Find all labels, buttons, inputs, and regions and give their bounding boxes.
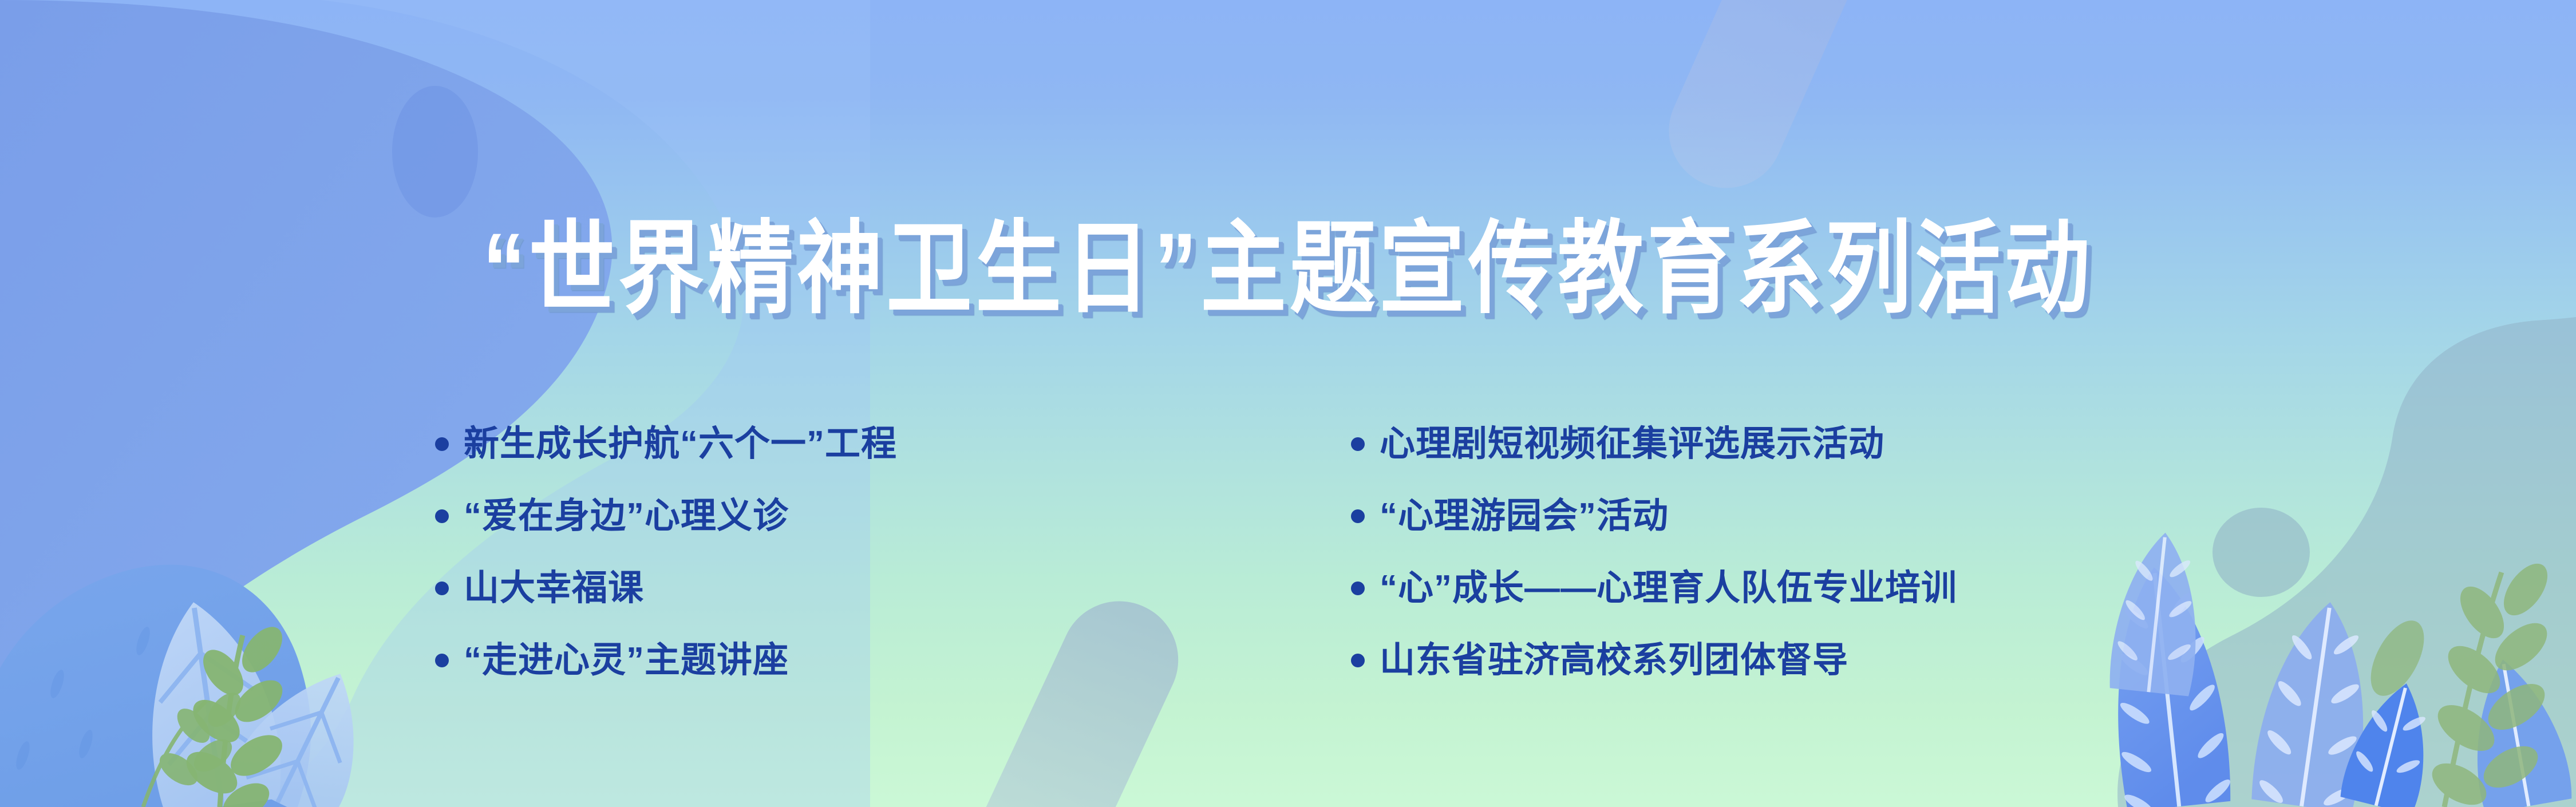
bullet-icon <box>435 581 449 595</box>
activity-label: “心理游园会”活动 <box>1380 499 1669 534</box>
activity-list-right: 心理剧短视频征集评选展示活动 “心理游园会”活动 “心”成长——心理育人队伍专业… <box>1351 418 2141 687</box>
activity-label: 山大幸福课 <box>464 571 644 606</box>
activity-list-left: 新生成长护航“六个一”工程 “爱在身边”心理义诊 山大幸福课 “走进心灵”主题讲… <box>435 418 1111 687</box>
bullet-icon <box>435 654 449 667</box>
ellipse-accent-top-left <box>392 86 478 217</box>
list-item[interactable]: “爱在身边”心理义诊 <box>435 490 1111 543</box>
list-item[interactable]: “心理游园会”活动 <box>1351 490 2141 543</box>
green-sprig-left-edge <box>143 687 247 807</box>
bullet-icon <box>1351 509 1365 523</box>
list-item[interactable]: “走进心灵”主题讲座 <box>435 634 1111 687</box>
list-item[interactable]: 心理剧短视频征集评选展示活动 <box>1351 418 2141 470</box>
diagonal-bar-upper <box>1650 0 1923 206</box>
activity-label: 心理剧短视频征集评选展示活动 <box>1380 426 1884 462</box>
bullet-icon <box>435 437 449 451</box>
list-item[interactable]: 山东省驻济高校系列团体督导 <box>1351 634 2141 687</box>
list-item[interactable]: “心”成长——心理育人队伍专业培训 <box>1351 562 2141 615</box>
activity-label: “心”成长——心理育人队伍专业培训 <box>1380 571 1957 606</box>
event-banner: “世界精神卫生日”主题宣传教育系列活动 新生成长护航“六个一”工程 “爱在身边”… <box>0 0 2576 807</box>
bullet-icon <box>1351 581 1365 595</box>
list-item[interactable]: 山大幸福课 <box>435 562 1111 615</box>
list-item[interactable]: 新生成长护航“六个一”工程 <box>435 418 1111 470</box>
activity-label: 山东省驻济高校系列团体督导 <box>1380 643 1848 678</box>
activity-label: 新生成长护航“六个一”工程 <box>464 426 897 462</box>
bullet-icon <box>1351 654 1365 667</box>
activity-label: “走进心灵”主题讲座 <box>464 643 789 678</box>
bullet-icon <box>435 509 449 523</box>
banner-title-wrapper: “世界精神卫生日”主题宣传教育系列活动 <box>0 212 2576 308</box>
activity-lists: 新生成长护航“六个一”工程 “爱在身边”心理义诊 山大幸福课 “走进心灵”主题讲… <box>0 418 2576 687</box>
banner-title: “世界精神卫生日”主题宣传教育系列活动 <box>483 212 2093 325</box>
activity-label: “爱在身边”心理义诊 <box>464 499 789 534</box>
bullet-icon <box>1351 437 1365 451</box>
